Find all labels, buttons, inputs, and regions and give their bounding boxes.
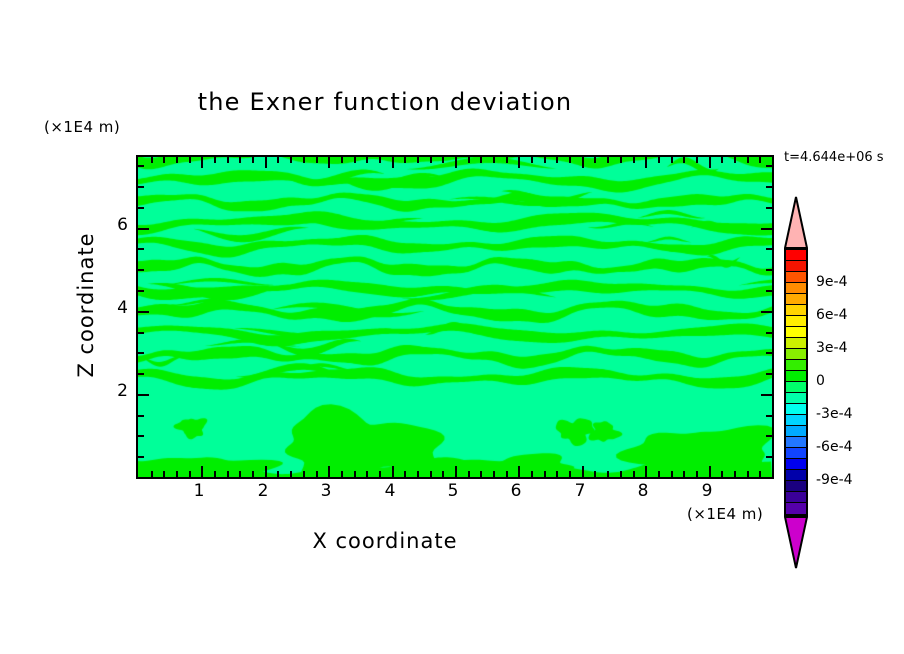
colorbar-band bbox=[786, 272, 806, 283]
colorbar-band bbox=[786, 316, 806, 327]
x-tick-top-minor bbox=[316, 157, 318, 163]
x-tick-top-minor bbox=[493, 157, 495, 163]
x-tick-minor bbox=[354, 471, 356, 477]
x-tick-minor bbox=[544, 471, 546, 477]
y-tick-major bbox=[138, 394, 149, 396]
x-tick-major bbox=[518, 466, 520, 477]
colorbar-band bbox=[786, 305, 806, 316]
x-tick-top-minor bbox=[176, 157, 178, 163]
x-tick-label: 9 bbox=[687, 481, 727, 501]
y-tick-right-minor bbox=[766, 435, 772, 437]
y-tick-minor bbox=[138, 207, 144, 209]
x-tick-top-major bbox=[582, 157, 584, 168]
colorbar-band bbox=[786, 382, 806, 393]
colorbar-over-arrow bbox=[784, 196, 808, 248]
x-tick-top-minor bbox=[607, 157, 609, 163]
x-tick-minor bbox=[734, 471, 736, 477]
colorbar-band bbox=[786, 459, 806, 470]
x-tick-top-major bbox=[328, 157, 330, 168]
x-tick-minor bbox=[316, 471, 318, 477]
y-tick-right-minor bbox=[766, 373, 772, 375]
y-tick-minor bbox=[138, 269, 144, 271]
x-tick-top-minor bbox=[417, 157, 419, 163]
x-tick-top-minor bbox=[252, 157, 254, 163]
x-tick-minor bbox=[506, 471, 508, 477]
x-tick-minor bbox=[620, 471, 622, 477]
y-tick-minor bbox=[138, 352, 144, 354]
x-tick-top-minor bbox=[480, 157, 482, 163]
x-tick-minor bbox=[417, 471, 419, 477]
x-tick-minor bbox=[189, 471, 191, 477]
y-tick-minor bbox=[138, 248, 144, 250]
x-tick-label: 5 bbox=[433, 481, 473, 501]
colorbar-band bbox=[786, 437, 806, 448]
x-tick-minor bbox=[176, 471, 178, 477]
x-tick-major bbox=[582, 466, 584, 477]
x-tick-top-minor bbox=[759, 157, 761, 163]
y-tick-right-minor bbox=[766, 352, 772, 354]
x-tick-minor bbox=[442, 471, 444, 477]
colorbar-band bbox=[786, 481, 806, 492]
x-tick-top-minor bbox=[163, 157, 165, 163]
x-tick-minor bbox=[163, 471, 165, 477]
x-tick-major bbox=[645, 466, 647, 477]
y-tick-right-minor bbox=[766, 165, 772, 167]
y-tick-major bbox=[138, 311, 149, 313]
x-tick-minor bbox=[633, 471, 635, 477]
x-tick-top-minor bbox=[531, 157, 533, 163]
colorbar-band bbox=[786, 492, 806, 503]
x-tick-top-minor bbox=[556, 157, 558, 163]
x-tick-top-minor bbox=[683, 157, 685, 163]
y-tick-right-minor bbox=[766, 186, 772, 188]
y-tick-right-minor bbox=[766, 332, 772, 334]
x-tick-top-minor bbox=[303, 157, 305, 163]
colorbar-tick-label: 0 bbox=[816, 373, 825, 389]
x-tick-top-minor bbox=[658, 157, 660, 163]
x-tick-minor bbox=[759, 471, 761, 477]
x-tick-top-minor bbox=[404, 157, 406, 163]
x-tick-top-minor bbox=[594, 157, 596, 163]
x-tick-top-minor bbox=[721, 157, 723, 163]
x-tick-top-minor bbox=[468, 157, 470, 163]
x-tick-top-minor bbox=[227, 157, 229, 163]
colorbar-band bbox=[786, 393, 806, 404]
x-tick-major bbox=[201, 466, 203, 477]
x-tick-top-minor bbox=[290, 157, 292, 163]
x-tick-minor bbox=[227, 471, 229, 477]
x-tick-label: 2 bbox=[243, 481, 283, 501]
colorbar-tick-label: 3e-4 bbox=[816, 340, 847, 356]
x-tick-top-minor bbox=[354, 157, 356, 163]
y-tick-minor bbox=[138, 186, 144, 188]
x-tick-major bbox=[455, 466, 457, 477]
x-tick-minor bbox=[658, 471, 660, 477]
x-tick-top-minor bbox=[277, 157, 279, 163]
x-tick-top-minor bbox=[189, 157, 191, 163]
x-tick-minor bbox=[404, 471, 406, 477]
x-tick-top-minor bbox=[379, 157, 381, 163]
x-tick-minor bbox=[214, 471, 216, 477]
x-tick-top-minor bbox=[569, 157, 571, 163]
y-tick-right-major bbox=[761, 228, 772, 230]
colorbar-tick-label: 6e-4 bbox=[816, 307, 847, 323]
x-tick-top-minor bbox=[544, 157, 546, 163]
x-tick-minor bbox=[556, 471, 558, 477]
page-title: the Exner function deviation bbox=[0, 88, 770, 116]
y-tick-right-major bbox=[761, 394, 772, 396]
x-tick-top-major bbox=[518, 157, 520, 168]
y-tick-label: 2 bbox=[88, 381, 128, 401]
y-tick-minor bbox=[138, 332, 144, 334]
time-stamp-annotation: t=4.644e+06 s bbox=[784, 150, 884, 165]
colorbar-band bbox=[786, 327, 806, 338]
x-tick-minor bbox=[430, 471, 432, 477]
y-tick-major bbox=[138, 228, 149, 230]
x-tick-top-minor bbox=[696, 157, 698, 163]
x-axis-unit-label: (×1E4 m) bbox=[687, 505, 763, 523]
y-tick-right-minor bbox=[766, 207, 772, 209]
x-tick-top-major bbox=[455, 157, 457, 168]
x-tick-top-major bbox=[265, 157, 267, 168]
x-tick-minor bbox=[239, 471, 241, 477]
x-tick-minor bbox=[303, 471, 305, 477]
y-axis-unit-label: (×1E4 m) bbox=[44, 118, 120, 136]
x-tick-major bbox=[328, 466, 330, 477]
x-tick-top-major bbox=[201, 157, 203, 168]
x-tick-label: 4 bbox=[370, 481, 410, 501]
colorbar-under-arrow bbox=[784, 516, 808, 568]
x-tick-top-minor bbox=[341, 157, 343, 163]
colorbar-band bbox=[786, 349, 806, 360]
y-tick-right-minor bbox=[766, 415, 772, 417]
x-tick-minor bbox=[366, 471, 368, 477]
x-tick-label: 7 bbox=[560, 481, 600, 501]
colorbar-band bbox=[786, 283, 806, 294]
x-tick-top-minor bbox=[620, 157, 622, 163]
colorbar-band bbox=[786, 470, 806, 481]
colorbar-band bbox=[786, 448, 806, 459]
colorbar-band bbox=[786, 250, 806, 261]
x-tick-top-minor bbox=[442, 157, 444, 163]
x-tick-minor bbox=[683, 471, 685, 477]
x-tick-top-minor bbox=[671, 157, 673, 163]
x-tick-label: 1 bbox=[179, 481, 219, 501]
contour-plot-area bbox=[136, 155, 774, 479]
x-tick-minor bbox=[277, 471, 279, 477]
y-tick-right-minor bbox=[766, 456, 772, 458]
y-tick-label: 6 bbox=[88, 215, 128, 235]
x-tick-top-minor bbox=[430, 157, 432, 163]
colorbar-band bbox=[786, 294, 806, 305]
y-tick-minor bbox=[138, 435, 144, 437]
colorbar-band bbox=[786, 404, 806, 415]
y-tick-label: 4 bbox=[88, 298, 128, 318]
x-tick-top-minor bbox=[506, 157, 508, 163]
x-tick-top-minor bbox=[214, 157, 216, 163]
colorbar-bands bbox=[784, 248, 808, 516]
y-tick-right-minor bbox=[766, 269, 772, 271]
y-tick-right-minor bbox=[766, 290, 772, 292]
y-tick-minor bbox=[138, 373, 144, 375]
x-tick-top-minor bbox=[734, 157, 736, 163]
x-tick-top-major bbox=[645, 157, 647, 168]
contour-field bbox=[138, 157, 772, 477]
x-tick-top-major bbox=[392, 157, 394, 168]
y-tick-right-major bbox=[761, 311, 772, 313]
x-tick-label: 6 bbox=[496, 481, 536, 501]
colorbar-band bbox=[786, 261, 806, 272]
x-tick-minor bbox=[151, 471, 153, 477]
y-tick-minor bbox=[138, 415, 144, 417]
x-tick-minor bbox=[480, 471, 482, 477]
x-tick-top-minor bbox=[366, 157, 368, 163]
x-tick-minor bbox=[290, 471, 292, 477]
colorbar-band bbox=[786, 338, 806, 349]
colorbar-band bbox=[786, 415, 806, 426]
colorbar-tick-label: 9e-4 bbox=[816, 274, 847, 290]
x-tick-minor bbox=[531, 471, 533, 477]
x-tick-minor bbox=[696, 471, 698, 477]
x-tick-minor bbox=[569, 471, 571, 477]
colorbar-band bbox=[786, 371, 806, 382]
x-tick-minor bbox=[594, 471, 596, 477]
colorbar-tick-label: -6e-4 bbox=[816, 439, 853, 455]
colorbar-band bbox=[786, 426, 806, 437]
x-axis-title: X coordinate bbox=[0, 529, 770, 553]
x-tick-minor bbox=[671, 471, 673, 477]
x-tick-minor bbox=[721, 471, 723, 477]
x-tick-top-minor bbox=[747, 157, 749, 163]
x-tick-minor bbox=[468, 471, 470, 477]
y-tick-minor bbox=[138, 456, 144, 458]
x-tick-top-major bbox=[709, 157, 711, 168]
colorbar-tick-label: -3e-4 bbox=[816, 406, 853, 422]
y-tick-minor bbox=[138, 290, 144, 292]
colorbar-tick-label: -9e-4 bbox=[816, 472, 853, 488]
x-tick-top-minor bbox=[239, 157, 241, 163]
x-tick-minor bbox=[252, 471, 254, 477]
colorbar-band bbox=[786, 503, 806, 514]
x-tick-minor bbox=[341, 471, 343, 477]
x-tick-label: 3 bbox=[306, 481, 346, 501]
x-tick-label: 8 bbox=[623, 481, 663, 501]
x-tick-minor bbox=[379, 471, 381, 477]
x-tick-top-minor bbox=[151, 157, 153, 163]
x-tick-top-minor bbox=[633, 157, 635, 163]
x-tick-minor bbox=[607, 471, 609, 477]
x-tick-minor bbox=[747, 471, 749, 477]
x-tick-minor bbox=[493, 471, 495, 477]
colorbar-band bbox=[786, 360, 806, 371]
x-tick-major bbox=[709, 466, 711, 477]
y-tick-minor bbox=[138, 165, 144, 167]
x-tick-major bbox=[265, 466, 267, 477]
x-tick-major bbox=[392, 466, 394, 477]
y-tick-right-minor bbox=[766, 248, 772, 250]
